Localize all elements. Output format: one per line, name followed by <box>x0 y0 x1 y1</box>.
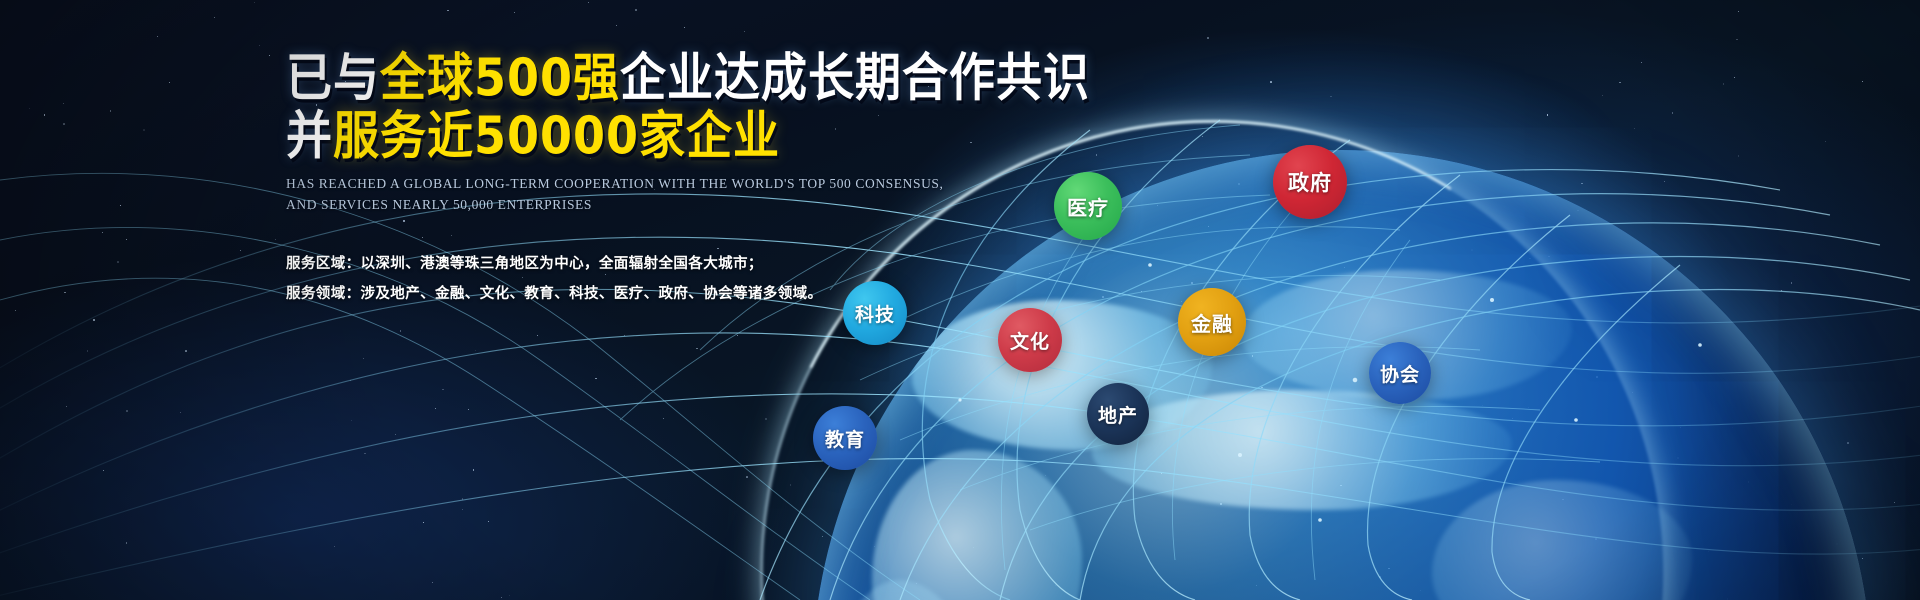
star <box>1330 96 1331 97</box>
star <box>475 350 476 351</box>
category-bubble-4[interactable]: 金融 <box>1178 288 1246 356</box>
headline-line-1: 已与全球500强企业达成长期合作共识 <box>286 52 1026 104</box>
star <box>684 27 685 28</box>
star <box>63 103 64 104</box>
star <box>595 378 596 379</box>
category-bubble-3[interactable]: 文化 <box>998 308 1062 372</box>
star <box>744 31 745 32</box>
star <box>44 114 46 116</box>
star <box>435 408 436 409</box>
star <box>259 45 260 46</box>
star <box>822 536 823 537</box>
star <box>1738 11 1739 12</box>
star <box>1634 128 1635 129</box>
star <box>120 205 121 206</box>
star <box>185 350 187 352</box>
star <box>509 595 510 596</box>
star <box>737 335 738 336</box>
english-subtitle: HAS REACHED A GLOBAL LONG-TERM COOPERATI… <box>286 174 1026 216</box>
star <box>468 409 469 410</box>
star <box>110 110 111 111</box>
star <box>514 12 515 13</box>
star <box>1894 502 1895 503</box>
star <box>790 484 792 486</box>
star <box>1547 114 1548 115</box>
star <box>1581 183 1582 184</box>
star <box>1096 154 1097 155</box>
star <box>64 292 65 293</box>
star <box>1791 282 1792 283</box>
headline-seg-highlight: 全球500强 <box>380 48 620 108</box>
star <box>462 509 463 510</box>
star <box>488 521 490 523</box>
headline-seg-highlight: 服务近50000家企业 <box>333 106 780 166</box>
star <box>696 348 697 349</box>
star <box>254 2 255 3</box>
star <box>180 412 181 413</box>
category-bubble-7[interactable]: 教育 <box>813 406 877 470</box>
star <box>63 123 65 125</box>
star <box>126 542 127 543</box>
star <box>157 36 158 37</box>
star <box>15 310 16 311</box>
star <box>269 55 270 56</box>
star <box>537 335 538 336</box>
star <box>275 239 276 240</box>
star <box>1734 77 1736 79</box>
star <box>1270 81 1272 83</box>
star <box>29 108 30 109</box>
star <box>1202 136 1203 137</box>
star <box>102 232 103 233</box>
category-bubble-6[interactable]: 地产 <box>1087 383 1149 445</box>
star <box>423 522 424 523</box>
category-bubble-0[interactable]: 政府 <box>1273 145 1347 219</box>
star <box>447 10 448 11</box>
star <box>240 250 241 251</box>
star <box>462 498 463 499</box>
category-bubble-1[interactable]: 医疗 <box>1054 172 1122 240</box>
star <box>1664 181 1665 182</box>
headline-seg: 已与 <box>286 48 380 108</box>
star <box>395 434 396 435</box>
star <box>1619 82 1620 83</box>
headline-seg: 企业达成长期合作共识 <box>620 48 1090 108</box>
star <box>635 9 637 11</box>
english-line-2: AND SERVICES NEARLY 50,000 ENTERPRISES <box>286 195 1026 216</box>
star <box>1207 37 1209 39</box>
promo-banner: 已与全球500强企业达成长期合作共识 并服务近50000家企业 HAS REAC… <box>0 0 1920 600</box>
headline-seg: 并 <box>286 106 333 166</box>
star <box>1602 95 1603 96</box>
service-description: 服务区域：以深圳、港澳等珠三角地区为中心，全面辐射全国各大城市； 服务领域：涉及… <box>286 250 1026 309</box>
star <box>351 420 352 421</box>
star <box>93 319 95 321</box>
star <box>473 469 474 470</box>
star <box>143 129 145 131</box>
category-bubble-2[interactable]: 科技 <box>843 281 907 345</box>
star <box>1672 112 1674 114</box>
star <box>117 261 119 263</box>
copy-block: 已与全球500强企业达成长期合作共识 并服务近50000家企业 HAS REAC… <box>286 52 1026 309</box>
star <box>1736 39 1737 40</box>
star <box>1738 155 1739 156</box>
headline-line-2: 并服务近50000家企业 <box>286 110 1026 162</box>
star <box>746 476 748 478</box>
star <box>501 597 502 598</box>
star <box>442 389 444 391</box>
star <box>126 410 128 412</box>
star <box>1723 83 1724 84</box>
star <box>1825 141 1826 142</box>
star <box>363 358 364 359</box>
star <box>1781 290 1783 292</box>
star <box>126 239 127 240</box>
headline: 已与全球500强企业达成长期合作共识 并服务近50000家企业 <box>286 52 1026 156</box>
star <box>1847 442 1849 444</box>
service-area-line: 服务区域：以深圳、港澳等珠三角地区为中心，全面辐射全国各大城市； <box>286 250 1026 280</box>
star <box>624 335 625 336</box>
star <box>364 453 366 455</box>
star <box>588 2 589 3</box>
star <box>432 582 433 583</box>
star <box>214 17 215 18</box>
star <box>400 330 401 331</box>
category-bubble-5[interactable]: 协会 <box>1369 342 1431 404</box>
star <box>663 418 664 419</box>
star <box>334 546 335 547</box>
star <box>87 350 89 352</box>
star <box>765 418 766 419</box>
english-line-1: HAS REACHED A GLOBAL LONG-TERM COOPERATI… <box>286 174 1026 195</box>
service-field-line: 服务领域：涉及地产、金融、文化、教育、科技、医疗、政府、协会等诸多领域。 <box>286 280 1026 310</box>
